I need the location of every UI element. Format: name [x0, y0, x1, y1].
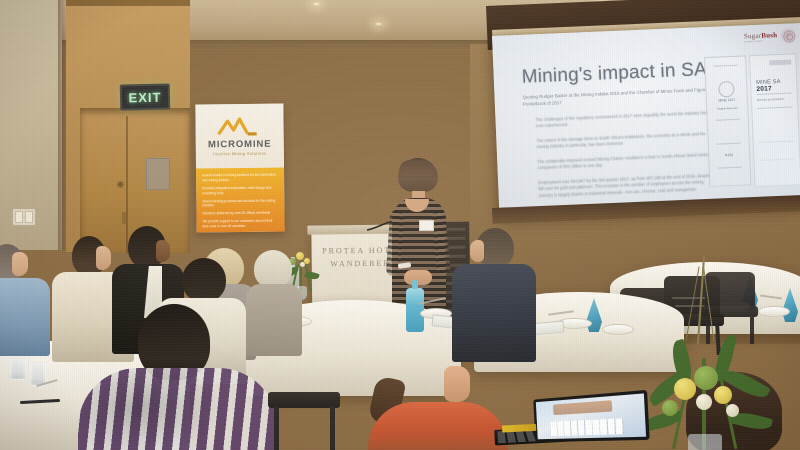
report-page-subtitle: Results presentation [757, 97, 785, 102]
plate [758, 306, 790, 317]
micromine-brand: MICROMINE [208, 138, 272, 150]
wood-panel-trim [66, 0, 190, 6]
slide-bullet: The unilaterally imposed revised Mining … [537, 152, 715, 173]
banner-bullet: We provide support to our customers arou… [203, 219, 279, 229]
audience-face [96, 246, 111, 270]
notepad [475, 399, 500, 440]
audience-face [470, 240, 484, 262]
banner-bullet: Award-winning products and services for … [202, 198, 278, 208]
report-page-title: MINE SA 2017 [756, 78, 797, 93]
venue-logo-word2: Bush [761, 31, 777, 40]
banner-bullets-area: A world leader in mining solutions for t… [196, 168, 285, 233]
slide-subtitle: Quoting Rudger Baxter at the Mining Inda… [522, 87, 712, 109]
laptop-display [536, 393, 646, 439]
report-page-tag [769, 59, 791, 65]
report-page: MINE SA 2017 Results presentation [749, 53, 800, 187]
report-cover-subtitle: Tougher than ever [707, 106, 747, 111]
venue-logo-text: SugarBush country estate [744, 31, 778, 43]
downlight-icon [374, 22, 383, 26]
venue-logo-word1: Sugar [744, 31, 762, 40]
banner-bullet: Provides integrated exploration, mine de… [202, 185, 278, 195]
audience-face [444, 366, 470, 402]
downlight-icon [312, 2, 321, 6]
report-title-year: 2017 [756, 85, 772, 93]
audience-shoulder-shade [78, 368, 278, 450]
rose-emblem-icon [780, 27, 797, 44]
report-cover: MINE 2017 Tougher than ever R150 [704, 55, 751, 187]
projection-screen: SugarBush country estate Mining's impact… [492, 23, 800, 216]
conference-room-photo: EXIT SugarBush country estate Mining's i… [0, 0, 800, 450]
audience-head [254, 250, 292, 288]
audience-torso [0, 278, 50, 356]
door-handle[interactable] [118, 182, 123, 187]
laptop-screen [533, 390, 649, 442]
exit-sign-label: EXIT [128, 89, 161, 105]
laptop-display-image [553, 400, 612, 415]
banner-bullet: Solutions delivered by over 20 offices w… [202, 211, 278, 217]
banner-logo-area: MICROMINE Intuitive Mining Solutions [195, 104, 284, 169]
slide-report-graphic: MINE 2017 Tougher than ever R150 MINE SA… [704, 53, 800, 189]
exit-sign: EXIT [120, 83, 171, 110]
laptop[interactable] [493, 392, 648, 450]
slide-bullet: The extent of the damage done to South A… [536, 131, 714, 152]
chair[interactable] [268, 392, 342, 450]
micromine-banner: MICROMINE Intuitive Mining Solutions A w… [195, 104, 284, 233]
slide-bullet: Employment was 464,667 by the 3rd quarte… [538, 173, 717, 200]
micromine-tagline: Intuitive Mining Solutions [213, 150, 266, 156]
light-switch[interactable] [25, 211, 33, 223]
venue-logo: SugarBush country estate [744, 27, 797, 45]
report-price: R150 [709, 152, 749, 158]
audience-face [12, 252, 28, 276]
micromine-mark-icon [216, 116, 262, 135]
presenter-hands [404, 270, 432, 285]
report-cover-title: MINE 2017 [707, 97, 747, 103]
spreadsheet-grid [550, 418, 624, 436]
light-switch-panel[interactable] [12, 208, 36, 226]
banner-bullet: A world leader in mining solutions for t… [202, 173, 278, 183]
list-item [78, 304, 278, 450]
list-item [0, 244, 52, 354]
name-badge [419, 220, 434, 231]
plate [602, 324, 634, 335]
audience-head [182, 258, 226, 302]
slide-bullet-list: The challenges of the regulatory environ… [535, 109, 716, 199]
venue-logo-tagline: country estate [744, 39, 777, 43]
light-switch[interactable] [15, 211, 23, 223]
reed-stems [682, 256, 722, 348]
presentation-slide: SugarBush country estate Mining's impact… [492, 23, 800, 216]
report-badge-icon [718, 81, 735, 98]
door-stop [122, 212, 126, 224]
slide-bullet: The challenges of the regulatory environ… [535, 109, 713, 130]
water-glass [10, 358, 26, 380]
door-push-plate[interactable] [146, 158, 170, 190]
presenter-fringe [399, 160, 435, 176]
